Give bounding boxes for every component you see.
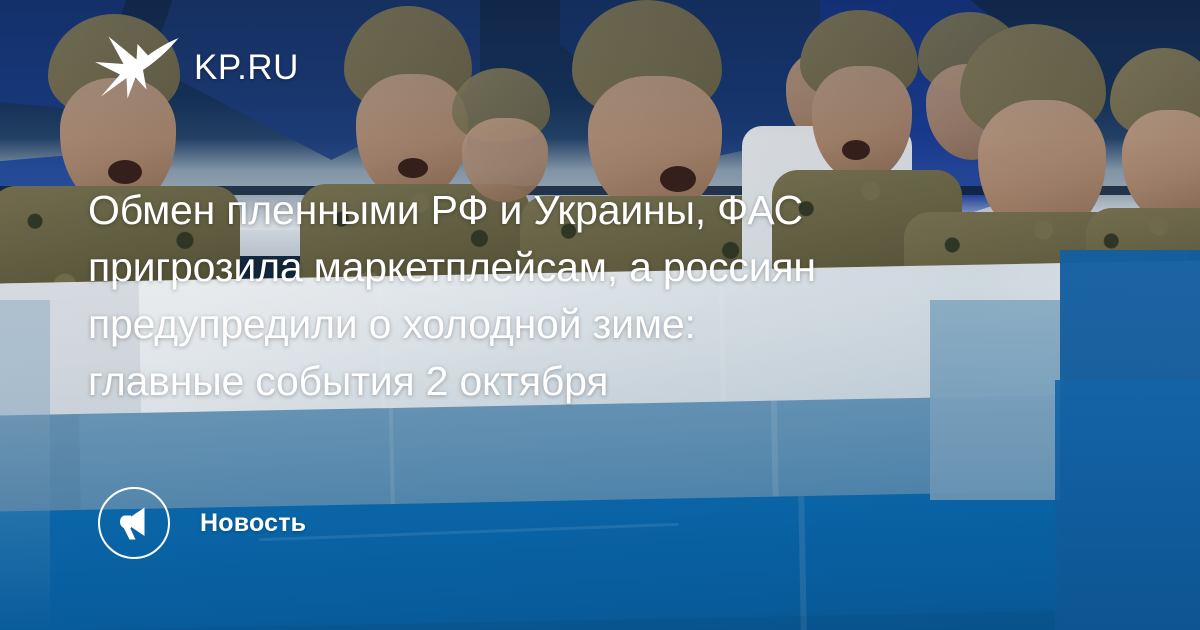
megaphone-icon bbox=[98, 487, 170, 559]
swallow-bird-icon bbox=[90, 32, 182, 102]
site-wordmark: KP.RU bbox=[194, 50, 299, 85]
share-card: KP.RU Обмен пленными РФ и Украины, ФАС п… bbox=[0, 0, 1200, 630]
status-badge[interactable]: Новость bbox=[98, 487, 306, 559]
site-logo[interactable]: KP.RU bbox=[90, 32, 299, 102]
badge-label: Новость bbox=[200, 509, 306, 538]
page-title: Обмен пленными РФ и Украины, ФАС пригроз… bbox=[88, 182, 1098, 410]
